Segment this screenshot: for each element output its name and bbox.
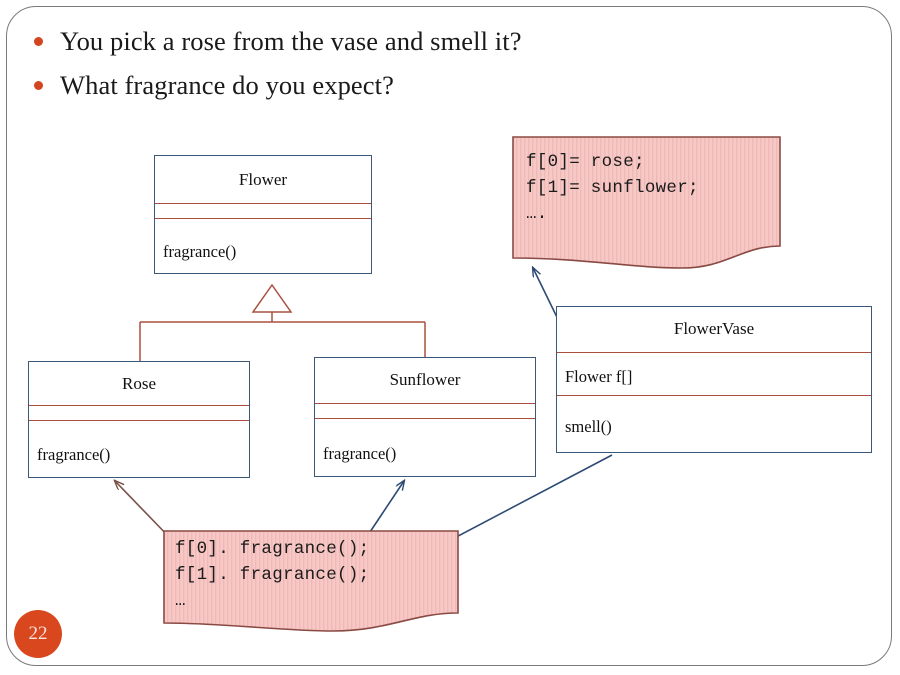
uml-divider: [155, 203, 371, 204]
code-note-bottom-line-1: f[0]. fragrance();: [175, 537, 369, 563]
uml-class-flowervase-title: FlowerVase: [557, 319, 871, 339]
uml-class-flowervase-methods: smell(): [565, 417, 612, 437]
uml-class-flowervase-attributes: Flower f[]: [565, 367, 632, 387]
uml-class-sunflower[interactable]: Sunflower fragrance(): [314, 357, 536, 477]
uml-divider: [557, 352, 871, 353]
code-note-bottom-line-2: f[1]. fragrance();: [175, 563, 369, 589]
uml-class-sunflower-title: Sunflower: [315, 370, 535, 390]
code-note-bottom-line-3: …: [175, 589, 186, 615]
page-number-badge: 22: [14, 610, 62, 658]
uml-class-flowervase[interactable]: FlowerVase Flower f[] smell(): [556, 306, 872, 453]
uml-class-rose-title: Rose: [29, 374, 249, 394]
code-note-top-line-2: f[1]= sunflower;: [526, 176, 699, 202]
uml-class-flower-title: Flower: [155, 170, 371, 190]
code-note-top-line-1: f[0]= rose;: [526, 150, 645, 176]
uml-class-rose-methods: fragrance(): [37, 445, 110, 465]
uml-divider: [29, 420, 249, 421]
code-note-bottom[interactable]: f[0]. fragrance(); f[1]. fragrance(); …: [163, 530, 460, 640]
bullet-text-1: You pick a rose from the vase and smell …: [60, 26, 522, 57]
uml-divider: [315, 403, 535, 404]
bullet-item-2: What fragrance do you expect?: [34, 70, 674, 101]
uml-class-rose[interactable]: Rose fragrance(): [28, 361, 250, 478]
uml-divider: [315, 418, 535, 419]
bullet-dot-icon: [34, 81, 43, 90]
slide-canvas: You pick a rose from the vase and smell …: [0, 0, 900, 675]
generalization-triangle-icon: [253, 285, 291, 312]
uml-class-flower-methods: fragrance(): [163, 242, 236, 262]
code-note-top-line-3: ….: [526, 202, 548, 228]
code-note-top[interactable]: f[0]= rose; f[1]= sunflower; ….: [512, 136, 782, 272]
uml-divider: [557, 395, 871, 396]
bullet-item-1: You pick a rose from the vase and smell …: [34, 26, 674, 57]
uml-divider: [29, 405, 249, 406]
uml-divider: [155, 218, 371, 219]
bullet-list: You pick a rose from the vase and smell …: [34, 26, 674, 115]
bullet-dot-icon: [34, 37, 43, 46]
uml-class-sunflower-methods: fragrance(): [323, 444, 396, 464]
uml-class-flower[interactable]: Flower fragrance(): [154, 155, 372, 274]
bullet-text-2: What fragrance do you expect?: [60, 70, 394, 101]
page-number-text: 22: [29, 623, 48, 645]
